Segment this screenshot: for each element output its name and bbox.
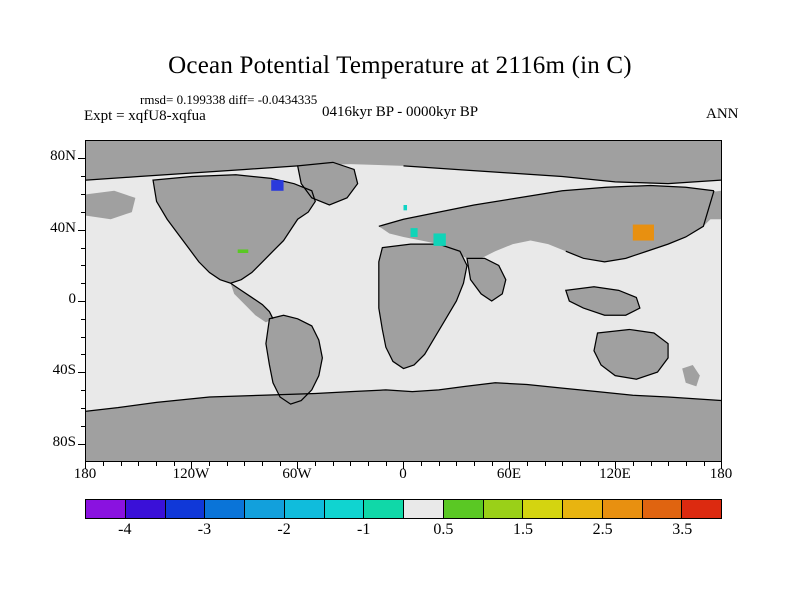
- colorbar-cell-4: [245, 500, 285, 518]
- ytick-minor: [81, 354, 85, 355]
- xtick-minor: [121, 462, 122, 466]
- colorbar-cell-7: [364, 500, 404, 518]
- colorbar-tick-label-5: 1.5: [493, 521, 553, 539]
- colorbar-tick-label-2: -2: [254, 521, 314, 539]
- colorbar-cell-10: [484, 500, 524, 518]
- colorbar-cell-5: [285, 500, 325, 518]
- colorbar-labels: -4-3-2-10.51.52.53.5: [85, 521, 722, 543]
- yaxis-label-4: 80S: [16, 434, 76, 451]
- world-map-plot: [85, 140, 722, 462]
- xaxis-label-1: 120W: [156, 466, 226, 483]
- colorbar-tick-label-1: -3: [174, 521, 234, 539]
- ytick-minor: [81, 390, 85, 391]
- colorbar-cell-8: [404, 500, 444, 518]
- ytick-minor: [81, 337, 85, 338]
- anomaly-eastern-mediterranean: [433, 233, 445, 245]
- anomaly-norwegian-coast: [404, 205, 408, 210]
- colorbar: [85, 499, 722, 519]
- page-title: Ocean Potential Temperature at 2116m (in…: [0, 52, 800, 80]
- colorbar-tick-label-3: -1: [334, 521, 394, 539]
- xtick-minor: [456, 462, 457, 466]
- yaxis-label-1: 40N: [16, 220, 76, 237]
- rmsd-annotation: rmsd= 0.199338 diff= -0.0434335: [140, 92, 317, 108]
- colorbar-cell-1: [126, 500, 166, 518]
- anomaly-western-mediterranean: [411, 228, 418, 237]
- xtick-minor: [350, 462, 351, 466]
- colorbar-tick-label-4: 0.5: [413, 521, 473, 539]
- ytick-minor: [81, 426, 85, 427]
- colorbar-cell-3: [205, 500, 245, 518]
- anomaly-sea-of-japan: [633, 225, 654, 241]
- xtick-minor: [545, 462, 546, 466]
- figure-canvas: Ocean Potential Temperature at 2116m (in…: [0, 0, 800, 600]
- xaxis-label-5: 120E: [580, 466, 650, 483]
- ytick-80n: [78, 158, 85, 159]
- colorbar-cell-9: [444, 500, 484, 518]
- xtick-minor: [227, 462, 228, 466]
- ytick-40s: [78, 372, 85, 373]
- yaxis-label-2: 0: [16, 291, 76, 308]
- period-label: 0416kyr BP - 0000kyr BP: [322, 104, 478, 121]
- ytick-minor: [81, 248, 85, 249]
- ytick-minor: [81, 408, 85, 409]
- yaxis-label-0: 80N: [16, 148, 76, 165]
- ytick-40n: [78, 230, 85, 231]
- xtick-minor: [668, 462, 669, 466]
- xtick-minor: [562, 462, 563, 466]
- ytick-minor: [81, 319, 85, 320]
- ytick-minor: [81, 176, 85, 177]
- yaxis-label-3: 40S: [16, 362, 76, 379]
- experiment-label: Expt = xqfU8-xqfua: [84, 108, 206, 125]
- anomaly-baffin-region: [271, 180, 283, 191]
- colorbar-cell-12: [563, 500, 603, 518]
- colorbar-cell-6: [325, 500, 365, 518]
- map-svg: [86, 141, 721, 461]
- ytick-minor: [81, 212, 85, 213]
- ytick-80s: [78, 444, 85, 445]
- xaxis-label-6: 180: [686, 466, 756, 483]
- xaxis-label-0: 180: [50, 466, 120, 483]
- xaxis-label-2: 60W: [262, 466, 332, 483]
- xaxis-label-4: 60E: [474, 466, 544, 483]
- xtick-minor: [651, 462, 652, 466]
- colorbar-tick-label-6: 2.5: [573, 521, 633, 539]
- ytick-0: [78, 301, 85, 302]
- colorbar-tick-label-0: -4: [95, 521, 155, 539]
- colorbar-tick-label-7: 3.5: [652, 521, 712, 539]
- colorbar-cell-2: [166, 500, 206, 518]
- season-label: ANN: [706, 106, 739, 123]
- xtick-minor: [333, 462, 334, 466]
- colorbar-cell-15: [682, 500, 721, 518]
- colorbar-cell-13: [603, 500, 643, 518]
- anomaly-gulf-of-mexico: [238, 249, 249, 253]
- colorbar-cell-0: [86, 500, 126, 518]
- ytick-minor: [81, 194, 85, 195]
- ytick-minor: [81, 283, 85, 284]
- colorbar-cell-14: [643, 500, 683, 518]
- xtick-minor: [439, 462, 440, 466]
- xtick-minor: [244, 462, 245, 466]
- ytick-minor: [81, 265, 85, 266]
- xtick-minor: [138, 462, 139, 466]
- xaxis-label-3: 0: [368, 466, 438, 483]
- colorbar-cell-11: [523, 500, 563, 518]
